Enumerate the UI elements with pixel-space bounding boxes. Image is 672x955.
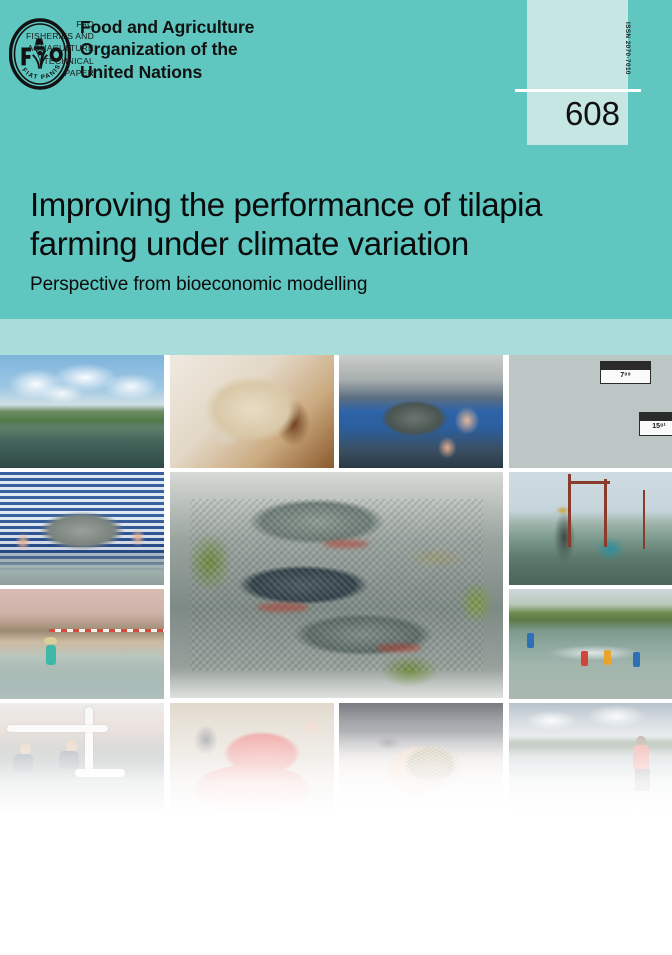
cover-footer-whitespace xyxy=(0,813,672,955)
publisher-name-line-2: Organization of the xyxy=(80,38,254,60)
photo-pond-dredging-rig xyxy=(509,472,672,585)
title-line-2: farming under climate variation xyxy=(30,225,646,264)
accent-band xyxy=(0,319,672,355)
photo-cooked-tilapia-dish xyxy=(170,355,334,468)
publisher-name: Food and Agriculture Organization of the… xyxy=(80,16,254,83)
photo-hand-holding-tilapia-market xyxy=(339,355,503,468)
series-title: FAO FISHERIES AND AQUACULTURE TECHNICAL … xyxy=(0,18,101,79)
photo-market-aquarium: 7⁹⁹ 15⁸¹ xyxy=(509,355,672,468)
series-line-2: FISHERIES AND xyxy=(0,30,94,42)
cover-photo-mosaic: 7⁹⁹ 15⁸¹ xyxy=(0,355,672,813)
page-title: Improving the performance of tilapia far… xyxy=(30,186,646,263)
photo-indoor-hatchery-tanks xyxy=(0,703,164,813)
issn-label: ISSN 2070-7010 xyxy=(619,22,631,86)
page-subtitle: Perspective from bioeconomic modelling xyxy=(30,274,646,296)
price-tag-1-value: 7⁹⁹ xyxy=(601,370,650,383)
photo-fingerlings-red-basin xyxy=(170,703,334,813)
series-line-5: PAPER xyxy=(0,67,94,79)
series-divider xyxy=(515,89,641,92)
series-line-4: TECHNICAL xyxy=(0,55,94,67)
photo-worker-feeding-raceways xyxy=(0,589,164,699)
photo-hand-with-feed-pellets xyxy=(339,703,503,813)
price-tag-2: 15⁸¹ xyxy=(639,412,672,437)
publisher-name-line-1: Food and Agriculture xyxy=(80,16,254,38)
photo-farmer-holding-tilapia xyxy=(0,472,164,585)
photo-seine-net-harvest xyxy=(509,589,672,699)
photo-man-at-pond-edge xyxy=(509,703,672,813)
publisher-name-line-3: United Nations xyxy=(80,61,254,83)
price-tag-1: 7⁹⁹ xyxy=(600,361,651,385)
series-line-3: AQUACULTURE xyxy=(0,42,94,54)
fao-publication-cover: FIAT PANIS Food and Agriculture Organiza… xyxy=(0,0,672,955)
series-number: 608 xyxy=(527,97,628,130)
series-line-1: FAO xyxy=(0,18,94,30)
price-tag-2-value: 15⁸¹ xyxy=(640,421,672,435)
photo-pond-landscape xyxy=(0,355,164,468)
photo-crate-of-tilapia xyxy=(170,472,503,698)
title-line-1: Improving the performance of tilapia xyxy=(30,186,646,225)
